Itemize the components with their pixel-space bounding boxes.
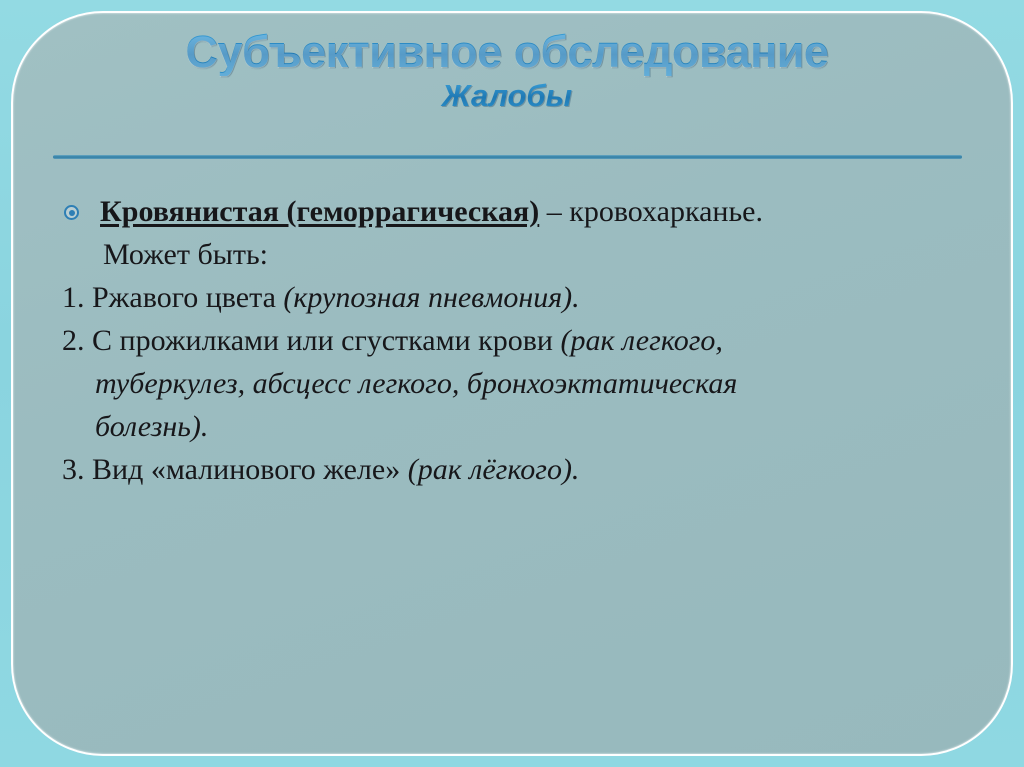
- item-number-3: 3.: [62, 453, 85, 486]
- bullet-lead-text: Кровянистая (геморрагическая): [100, 195, 539, 228]
- item-note-2: (рак легкого,: [560, 324, 722, 357]
- intro-text: Может быть:: [55, 233, 980, 276]
- page-subtitle: Жалобы: [52, 78, 962, 114]
- item-number-2: 2.: [62, 324, 85, 357]
- item-text-3: Вид «малинового желе»: [92, 453, 408, 486]
- item-text-1: Ржавого цвета: [92, 281, 283, 314]
- item-2-continuation-line-2: болезнь).: [55, 405, 980, 448]
- title-divider: [53, 155, 962, 159]
- slide-body: Кровянистая (геморрагическая) – кровохар…: [55, 190, 980, 491]
- numbered-item-2: 2. С прожилками или сгустками крови (рак…: [55, 319, 980, 362]
- item-text-2: С прожилками или сгустками крови: [92, 324, 560, 357]
- item-number-1: 1.: [62, 281, 85, 314]
- numbered-item-3: 3. Вид «малинового желе» (рак лёгкого).: [55, 448, 980, 491]
- target-bullet-icon: [64, 205, 79, 220]
- item-note-1: (крупозная пневмония).: [283, 281, 579, 314]
- numbered-item-1: 1. Ржавого цвета (крупозная пневмония).: [55, 276, 980, 319]
- slide: Субъективное обследование Жалобы Кровяни…: [0, 0, 1024, 767]
- item-2-continuation-line-1: туберкулез, абсцесс легкого, бронхоэктат…: [55, 362, 980, 405]
- bullet-rest-text: – кровохарканье.: [539, 195, 763, 228]
- item-note-3: (рак лёгкого).: [408, 453, 580, 486]
- bullet-list-item: Кровянистая (геморрагическая) – кровохар…: [55, 190, 980, 233]
- page-title: Субъективное обследование: [52, 28, 962, 76]
- title-block: Субъективное обследование Жалобы: [52, 28, 962, 113]
